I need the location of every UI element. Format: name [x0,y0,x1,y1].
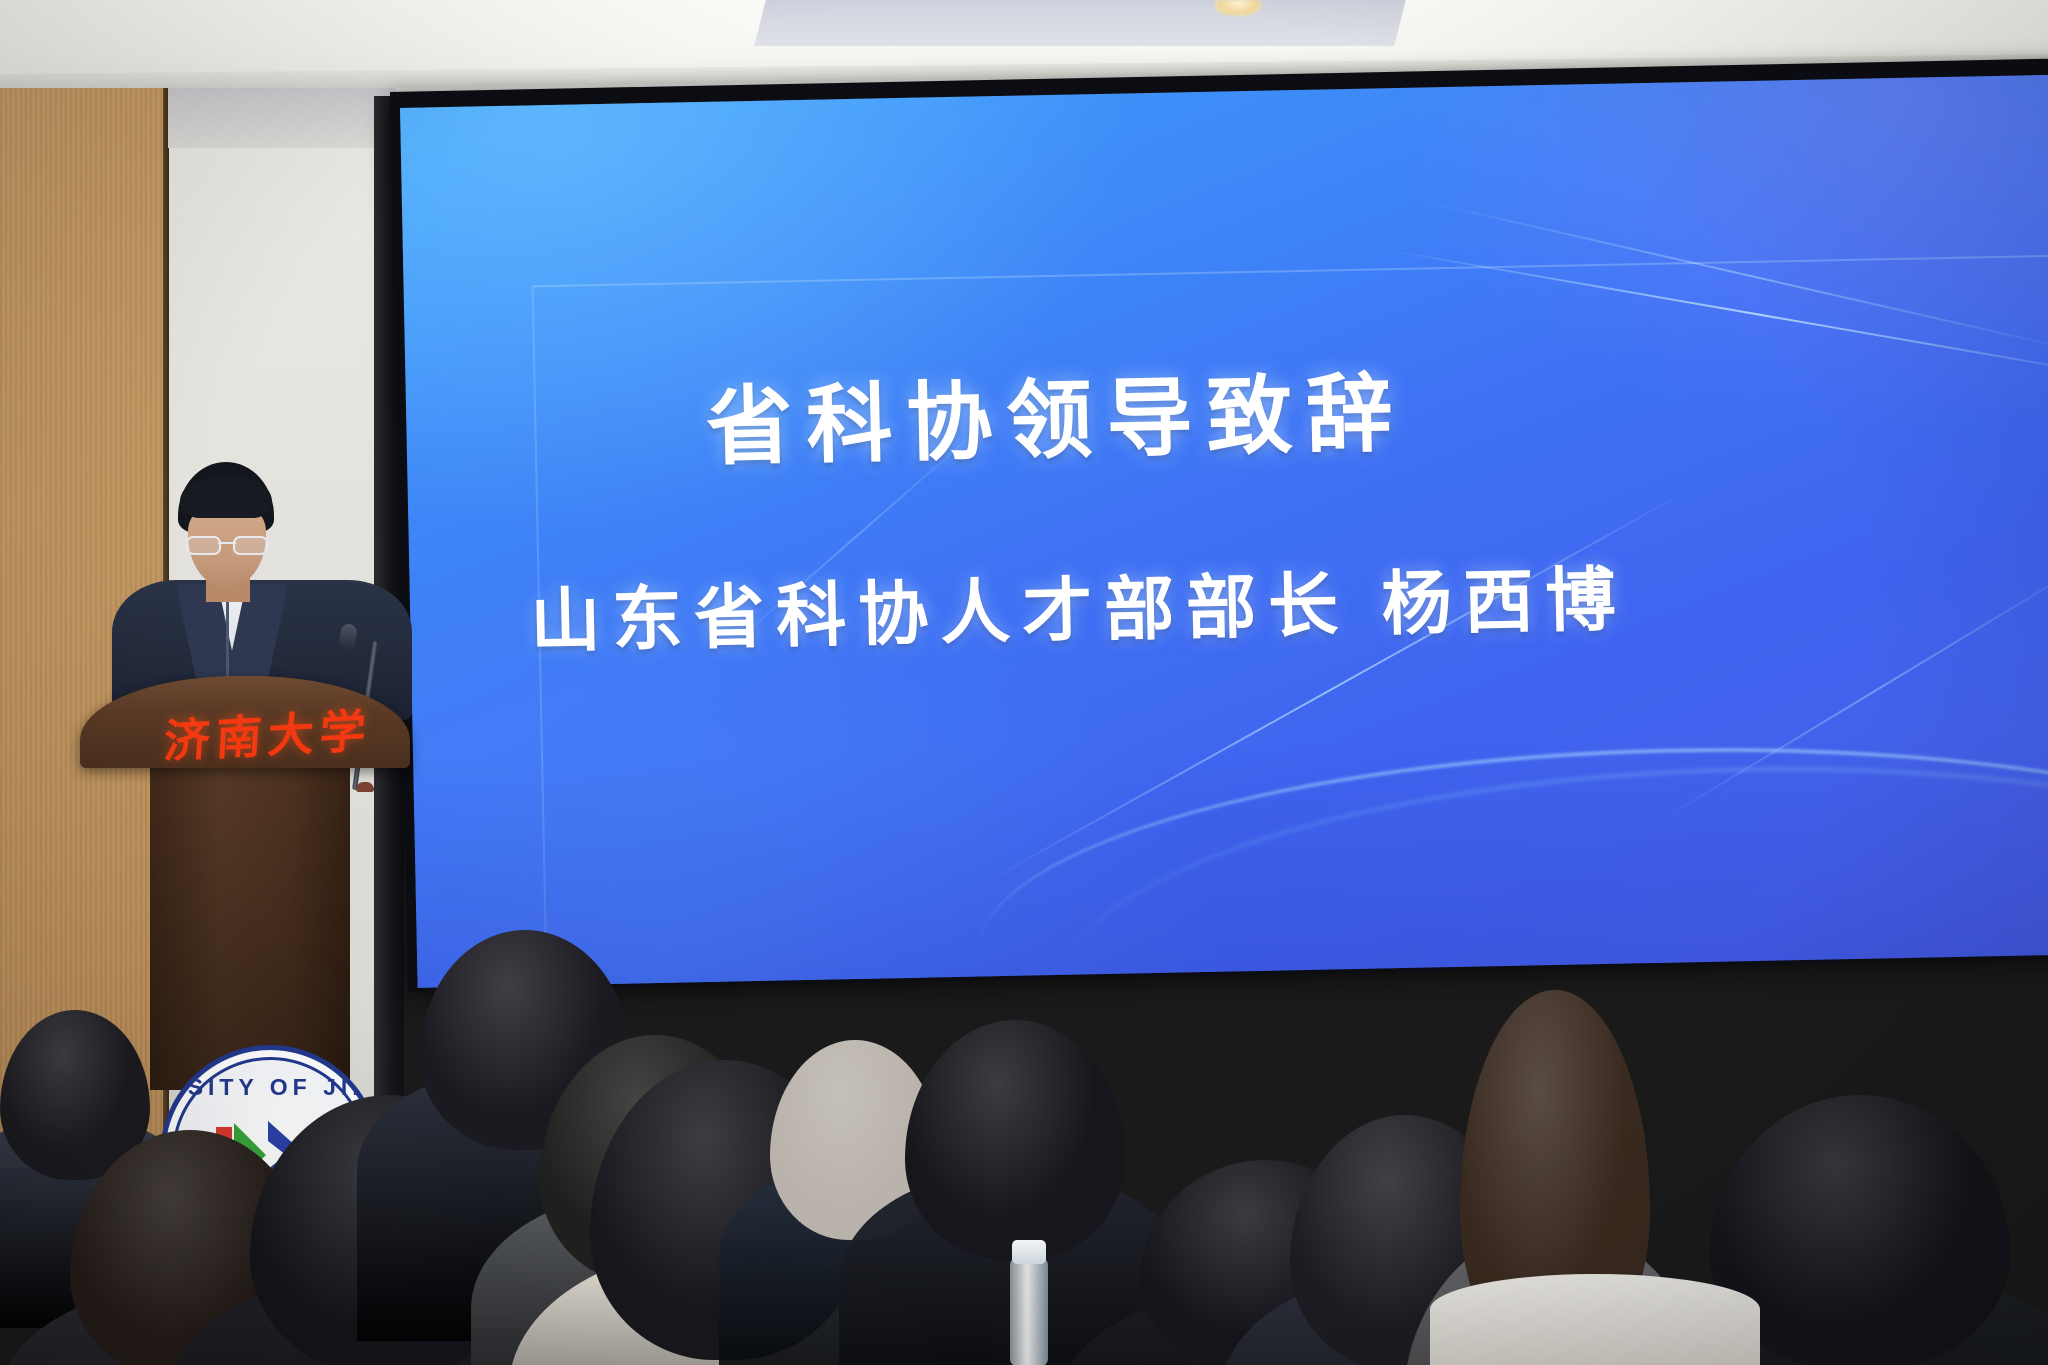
screen-bottom-shading [413,725,2048,988]
conference-photo: 省科协领导致辞 山东省科协人才部部长 杨西博 济南大学 RSITY OF JIN… [0,0,2048,1365]
water-bottle [1010,1258,1048,1365]
speaker-jacket-zipper [226,600,229,680]
podium-body-shading [150,760,350,1090]
glasses-icon [186,536,268,552]
led-presentation-screen: 省科协领导致辞 山东省科协人才部部长 杨西博 [400,75,2048,988]
microphone-base [356,782,374,792]
speaker-hair-fringe [180,478,272,518]
ceiling-light-icon [1215,0,1261,16]
water-bottle-cap [1012,1240,1046,1264]
conference-table-edge [1430,1274,1760,1365]
slide-title: 省科协领导致辞 [705,343,1407,482]
emblem-arc-text: RSITY OF JIN [166,1074,374,1101]
audience-member-head [905,1020,1125,1260]
wall-upper-shadow [168,88,398,148]
ceiling-recess-panel [754,0,1405,46]
podium-institution-text: 济南大学 [162,694,373,771]
